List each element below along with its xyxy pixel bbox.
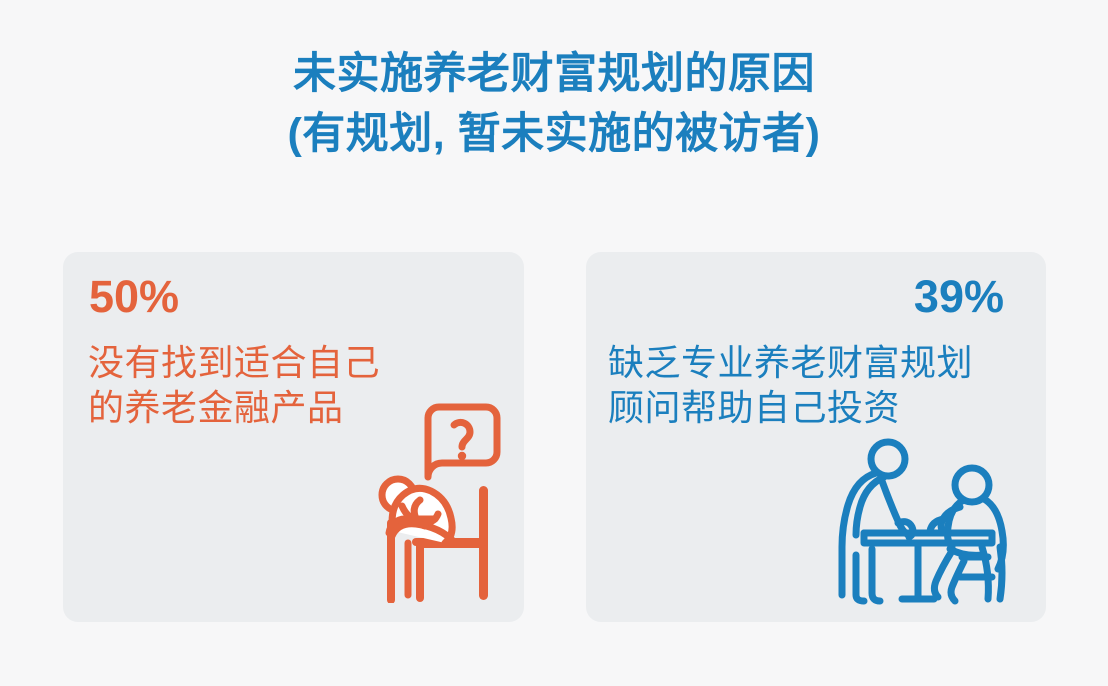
page-title: 未实施养老财富规划的原因 (有规划, 暂未实施的被访者) bbox=[0, 44, 1108, 164]
stat-percentage-left: 50% bbox=[89, 271, 179, 323]
page-title-line-2: (有规划, 暂未实施的被访者) bbox=[0, 104, 1108, 164]
stat-reason-left-line-1: 没有找到适合自己 bbox=[88, 340, 428, 385]
stat-reason-right: 缺乏专业养老财富规划 顾问帮助自己投资 bbox=[608, 340, 1028, 430]
stat-card-no-suitable-product: 50% 没有找到适合自己 的养老金融产品 bbox=[63, 252, 524, 622]
person-sitting-head-in-hands-question-bubble-icon bbox=[376, 403, 502, 608]
stat-card-lack-professional-advisor: 39% 缺乏专业养老财富规划 顾问帮助自己投资 bbox=[586, 252, 1046, 622]
advisor-and-client-at-table-icon bbox=[832, 437, 1028, 610]
page-title-line-1: 未实施养老财富规划的原因 bbox=[0, 44, 1108, 104]
stat-reason-right-line-1: 缺乏专业养老财富规划 bbox=[608, 340, 1028, 385]
stat-reason-right-line-2: 顾问帮助自己投资 bbox=[608, 385, 1028, 430]
stat-percentage-right: 39% bbox=[914, 271, 1004, 323]
